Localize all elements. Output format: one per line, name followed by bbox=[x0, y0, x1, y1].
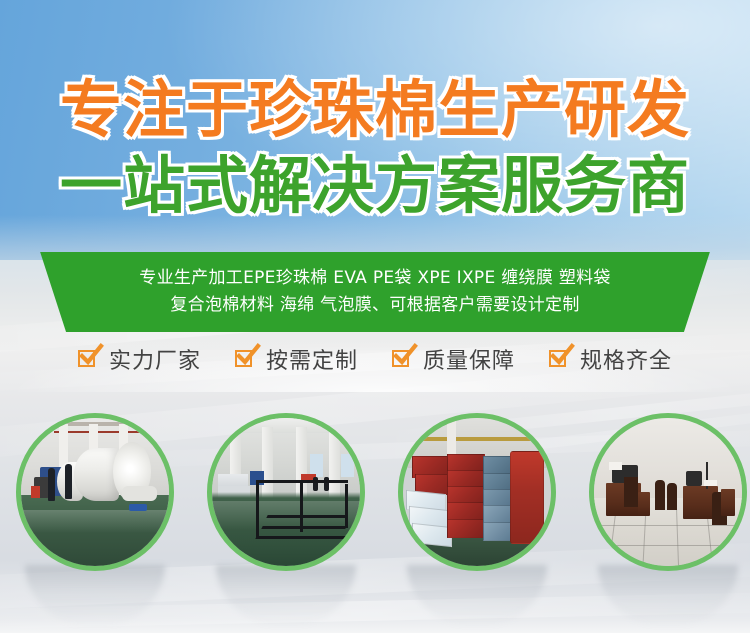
product-list-banner: 专业生产加工EPE珍珠棉 EVA PE袋 XPE IXPE 缠绕膜 塑料袋 复合… bbox=[34, 252, 716, 332]
banner-text-line-2: 复合泡棉材料 海绵 气泡膜、可根据客户需要设计定制 bbox=[170, 292, 579, 319]
photo-ring-border bbox=[589, 413, 747, 571]
feature-item-strength: 实力厂家 bbox=[78, 343, 201, 375]
photo-ring-border bbox=[207, 413, 365, 571]
checkbox-checked-icon bbox=[235, 348, 257, 370]
photo-circle-office bbox=[589, 413, 747, 571]
headline-line-secondary: 一站式解决方案服务商 bbox=[0, 150, 750, 222]
feature-item-custom: 按需定制 bbox=[235, 343, 358, 375]
feature-item-specs: 规格齐全 bbox=[549, 343, 672, 375]
photo-ring-border bbox=[398, 413, 556, 571]
photo-ring-border bbox=[16, 413, 174, 571]
checkbox-checked-icon bbox=[549, 348, 571, 370]
headline-line-primary: 专注于珍珠棉生产研发 bbox=[0, 74, 750, 146]
photo-office bbox=[594, 418, 742, 566]
checkbox-checked-icon bbox=[78, 348, 100, 370]
photo-circle-production-line bbox=[16, 413, 174, 571]
feature-label: 实力厂家 bbox=[109, 343, 201, 375]
headline-block: 专注于珍珠棉生产研发 一站式解决方案服务商 bbox=[0, 74, 750, 222]
feature-item-quality: 质量保障 bbox=[392, 343, 515, 375]
photo-circle-row bbox=[0, 413, 750, 583]
photo-production-line bbox=[21, 418, 169, 566]
photo-circle-warehouse bbox=[398, 413, 556, 571]
photo-warehouse-stock bbox=[403, 418, 551, 566]
photo-workshop-floor bbox=[212, 418, 360, 566]
checkbox-checked-icon bbox=[392, 348, 414, 370]
feature-label: 按需定制 bbox=[266, 343, 358, 375]
feature-label: 质量保障 bbox=[423, 343, 515, 375]
feature-label: 规格齐全 bbox=[580, 343, 672, 375]
banner-text-line-1: 专业生产加工EPE珍珠棉 EVA PE袋 XPE IXPE 缠绕膜 塑料袋 bbox=[139, 265, 610, 292]
photo-circle-workshop bbox=[207, 413, 365, 571]
banner-canvas: 专注于珍珠棉生产研发 一站式解决方案服务商 专业生产加工EPE珍珠棉 EVA P… bbox=[0, 0, 750, 633]
feature-badge-row: 实力厂家 按需定制 质量保障 规格齐全 bbox=[0, 340, 750, 378]
